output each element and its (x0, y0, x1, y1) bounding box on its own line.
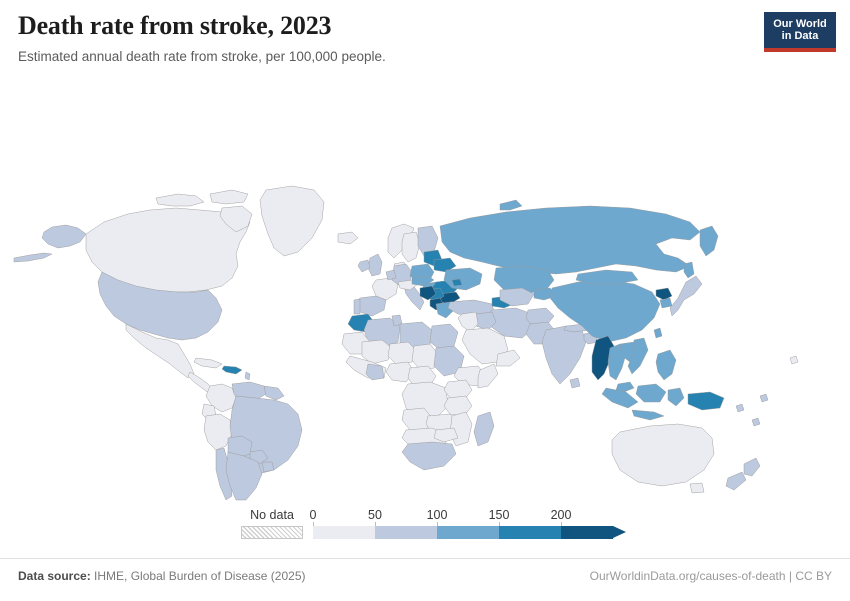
legend-no-data-swatch (241, 526, 303, 539)
map-legend: No data 0 50 100 150 200 (0, 508, 850, 556)
legend-tick-50: 50 (368, 508, 382, 522)
map-countries (14, 186, 798, 500)
country-mongolia[interactable] (576, 270, 638, 284)
owid-logo-line2: in Data (782, 30, 819, 42)
page-subtitle: Estimated annual death rate from stroke,… (18, 49, 832, 66)
country-moldova[interactable] (452, 279, 462, 286)
country-philippines[interactable] (656, 350, 676, 380)
owid-logo[interactable]: Our World in Data (764, 12, 836, 52)
legend-bin-200-plus[interactable] (561, 526, 613, 539)
chart-header: Death rate from stroke, 2023 Estimated a… (18, 12, 832, 65)
owid-logo-line1: Our World (773, 18, 827, 30)
country-madagascar[interactable] (474, 412, 494, 446)
legend-tick-100: 100 (427, 508, 448, 522)
country-indonesia-sumatra[interactable] (602, 388, 638, 408)
country-indonesia-java[interactable] (632, 410, 664, 420)
country-hispaniola[interactable] (222, 366, 242, 374)
legend-scale-block[interactable]: 0 50 100 150 200 (313, 508, 626, 539)
legend-inner: No data 0 50 100 150 200 (241, 508, 626, 539)
country-papua-new-guinea[interactable] (688, 392, 724, 410)
country-pacific-4[interactable] (790, 356, 798, 364)
legend-tick-150: 150 (489, 508, 510, 522)
legend-color-bar (313, 526, 626, 539)
legend-tick-0: 0 (310, 508, 317, 522)
country-south-africa[interactable] (402, 442, 456, 470)
country-alaska-aleutians[interactable] (14, 253, 52, 262)
country-india[interactable] (542, 326, 586, 384)
legend-bin-0-50[interactable] (313, 526, 375, 539)
country-russia[interactable] (440, 206, 700, 274)
country-ireland[interactable] (358, 260, 370, 272)
country-benelux[interactable] (386, 270, 396, 280)
country-lesser-antilles[interactable] (245, 372, 250, 380)
country-fiji-pacific-1[interactable] (752, 418, 760, 426)
country-russia-kamchatka[interactable] (700, 226, 718, 256)
legend-tickmark-100 (437, 522, 438, 526)
country-south-korea[interactable] (660, 298, 672, 308)
country-new-zealand-south[interactable] (726, 472, 746, 490)
country-new-zealand[interactable] (744, 458, 760, 476)
legend-tickmark-50 (375, 522, 376, 526)
country-canada-arctic-2[interactable] (210, 190, 248, 204)
country-indonesia-sulawesi[interactable] (668, 388, 684, 406)
country-tasmania[interactable] (690, 483, 704, 493)
country-tanzania[interactable] (444, 396, 472, 416)
country-sweden[interactable] (402, 232, 420, 262)
country-australia[interactable] (612, 424, 714, 486)
page-title: Death rate from stroke, 2023 (18, 12, 832, 41)
owid-link[interactable]: OurWorldinData.org/causes-of-death | CC … (590, 569, 832, 583)
world-choropleth-map[interactable] (0, 86, 850, 501)
country-pacific-2[interactable] (736, 404, 744, 412)
country-novaya-zemlya[interactable] (500, 200, 522, 210)
country-taiwan[interactable] (654, 328, 662, 338)
country-uruguay[interactable] (262, 462, 274, 472)
owid-chart-root: Death rate from stroke, 2023 Estimated a… (0, 0, 850, 600)
country-canada-arctic-1[interactable] (156, 194, 204, 206)
legend-bin-100-150[interactable] (437, 526, 499, 539)
country-pacific-3[interactable] (760, 394, 768, 402)
country-united-kingdom[interactable] (368, 254, 382, 276)
country-alaska[interactable] (42, 225, 86, 248)
data-source-prefix: Data source: (18, 569, 91, 583)
data-source-value: IHME, Global Burden of Disease (2025) (94, 569, 305, 583)
country-somalia[interactable] (478, 364, 498, 388)
data-source-text: Data source: IHME, Global Burden of Dise… (18, 569, 305, 583)
legend-tick-labels: 0 50 100 150 200 (313, 508, 626, 526)
country-japan[interactable] (670, 276, 702, 316)
map-svg (0, 86, 850, 501)
country-russia-sakhalin[interactable] (684, 262, 694, 278)
country-greenland[interactable] (260, 186, 324, 256)
legend-tickmark-150 (499, 522, 500, 526)
legend-tickmark-0 (313, 522, 314, 526)
legend-bin-50-100[interactable] (375, 526, 437, 539)
country-iceland[interactable] (338, 232, 358, 244)
country-cuba[interactable] (194, 358, 222, 368)
legend-bin-150-200[interactable] (499, 526, 561, 539)
country-guyanas[interactable] (264, 386, 284, 400)
country-portugal[interactable] (354, 299, 360, 314)
legend-no-data-label: No data (241, 508, 303, 522)
legend-arrow-icon (613, 526, 626, 538)
legend-tick-200: 200 (551, 508, 572, 522)
country-sri-lanka[interactable] (570, 378, 580, 388)
legend-tickmark-200 (561, 522, 562, 526)
chart-footer: Data source: IHME, Global Burden of Dise… (0, 558, 850, 601)
legend-no-data-block[interactable]: No data (241, 508, 303, 539)
country-indonesia-borneo[interactable] (636, 384, 666, 402)
